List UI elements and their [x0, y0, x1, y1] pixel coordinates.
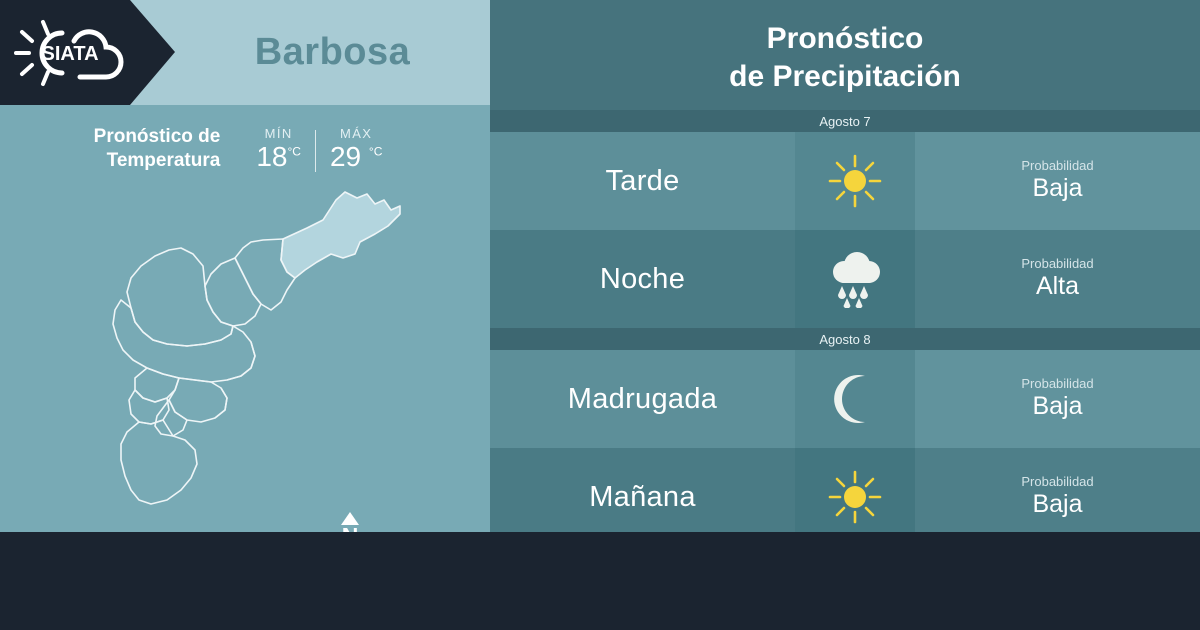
temperature-title: Pronóstico de Temperatura [94, 125, 221, 173]
map-inner-boundary-2 [227, 342, 255, 380]
probability-label: Probabilidad [1021, 158, 1093, 174]
map-inner-boundary-1 [215, 388, 227, 418]
precipitation-panel: Pronóstico de Precipitación Agosto 7 Tar… [490, 0, 1200, 532]
forecast-row[interactable]: Noche Probabilidad Alta [490, 230, 1200, 328]
forecast-period-label: Madrugada [490, 350, 795, 448]
precipitation-title: Pronóstico de Precipitación [490, 8, 1200, 108]
temperature-min-unit: °C [287, 145, 300, 159]
forecast-probability-cell: Probabilidad Baja [915, 350, 1200, 448]
probability-label: Probabilidad [1021, 376, 1093, 392]
sun-cloud-icon: SIATA [10, 15, 128, 91]
temperature-title-line2: Temperatura [94, 149, 221, 173]
left-panel: SIATA Barbosa Pronóstico de Temperatura … [0, 0, 490, 532]
sun-icon [826, 152, 884, 210]
temperature-min: MÍN 18°C [242, 126, 315, 171]
temperature-title-line1: Pronóstico de [94, 125, 221, 149]
forecast-row[interactable]: Madrugada Probabilidad Baja [490, 350, 1200, 448]
probability-value: Baja [1032, 391, 1082, 422]
precipitation-title-line1: Pronóstico [767, 20, 924, 58]
probability-value: Alta [1036, 271, 1079, 302]
map-region-medellin [113, 300, 255, 382]
temperature-max-unit: °C [369, 145, 382, 159]
rain-cloud-icon [824, 250, 886, 308]
forecast-period-label: Noche [490, 230, 795, 328]
temperature-max-number: 29 [330, 141, 361, 172]
temperature-max-label: MÁX [330, 126, 382, 141]
forecast-weather-icon-cell [795, 350, 915, 448]
temperature-readouts: MÍN 18°C MÁX 29 °C [242, 126, 396, 171]
forecast-weather-icon-cell [795, 230, 915, 328]
forecast-probability-cell: Probabilidad Alta [915, 230, 1200, 328]
moon-icon [829, 372, 881, 426]
temperature-forecast-block: Pronóstico de Temperatura MÍN 18°C MÁX 2… [0, 118, 490, 180]
temperature-max: MÁX 29 °C [316, 126, 396, 171]
sun-icon [826, 468, 884, 526]
map-region-copacabana [205, 258, 261, 326]
probability-value: Baja [1032, 489, 1082, 520]
temperature-min-number: 18 [256, 141, 287, 172]
temperature-min-label: MÍN [256, 126, 301, 141]
date-band-day1: Agosto 7 [490, 110, 1200, 132]
temperature-max-value: 29 °C [330, 142, 382, 171]
aburra-valley-map[interactable]: N [55, 182, 455, 522]
probability-label: Probabilidad [1021, 256, 1093, 272]
precipitation-title-line2: de Precipitación [729, 58, 961, 96]
probability-value: Baja [1032, 173, 1082, 204]
forecast-weather-icon-cell [795, 132, 915, 230]
siata-wordmark: SIATA [41, 43, 98, 65]
map-region-barbosa[interactable] [281, 192, 400, 278]
forecast-row[interactable]: Tarde Probabilidad Baja [490, 132, 1200, 230]
map-region-sabaneta [155, 400, 187, 436]
city-title: Barbosa [175, 0, 490, 105]
probability-label: Probabilidad [1021, 474, 1093, 490]
map-svg [55, 182, 455, 522]
siata-logo-tab[interactable]: SIATA [0, 0, 175, 105]
temperature-min-value: 18°C [256, 142, 301, 171]
date-band-day2: Agosto 8 [490, 328, 1200, 350]
forecast-period-label: Tarde [490, 132, 795, 230]
forecast-probability-cell: Probabilidad Baja [915, 132, 1200, 230]
temperature-divider [315, 130, 316, 171]
left-header-bar: SIATA Barbosa [0, 0, 490, 105]
footer: @siatamedellin www.siata.gov.co Con el a… [0, 532, 1200, 630]
